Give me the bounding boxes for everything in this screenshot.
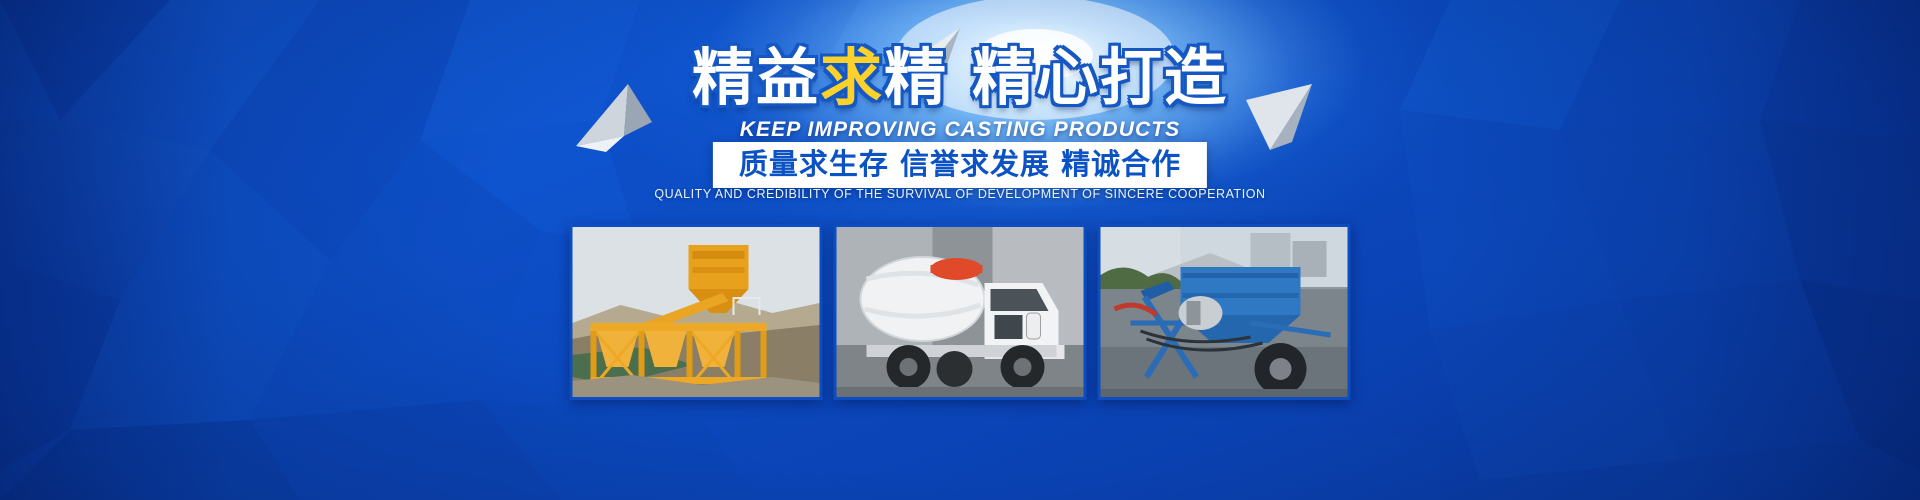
photo-concrete-mixer-truck[interactable] <box>834 224 1087 400</box>
headline-part3: 精 <box>884 41 948 114</box>
headline-part1: 精益 <box>692 41 820 114</box>
slogan-ribbon-text: 质量求生存 信誉求发展 精诚合作 <box>739 147 1181 181</box>
photo-concrete-batching-plant[interactable] <box>570 224 823 400</box>
headline-part4: 精心打造 <box>972 41 1228 114</box>
promo-banner: 精益求精精心打造 KEEP IMPROVING CASTING PRODUCTS… <box>0 0 1920 500</box>
photo-strip <box>570 224 1351 400</box>
photo-blue-mixing-equipment[interactable] <box>1098 224 1351 400</box>
headline-gold-char: 求 <box>820 41 884 114</box>
slogan-ribbon: 质量求生存 信誉求发展 精诚合作 <box>713 142 1207 188</box>
headline: 精益求精精心打造 <box>0 47 1920 109</box>
tagline-en: QUALITY AND CREDIBILITY OF THE SURVIVAL … <box>0 187 1920 201</box>
headline-subtitle-en: KEEP IMPROVING CASTING PRODUCTS <box>0 118 1920 142</box>
